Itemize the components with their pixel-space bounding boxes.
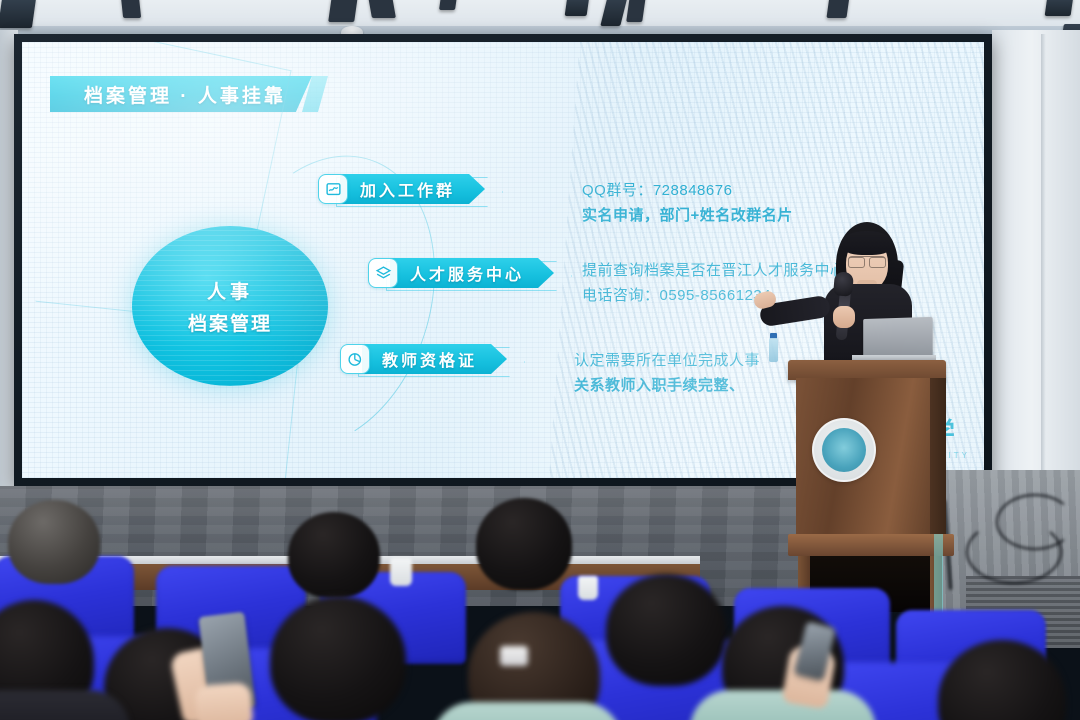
slide-node-1: 加入工作群	[318, 174, 485, 204]
water-bottle	[769, 338, 778, 362]
core-circle: 人事 档案管理	[132, 226, 328, 386]
laptop-screen	[863, 317, 932, 359]
slide-node-label-2: 人才服务中心	[390, 258, 554, 288]
university-emblem	[812, 418, 876, 482]
slide-node-label-1: 加入工作群	[340, 174, 485, 204]
slide-note-1-line-2: 实名申请，部门+姓名改群名片	[582, 203, 793, 228]
slide-node-3: 教师资格证	[340, 344, 507, 374]
wall-seam	[1041, 34, 1046, 474]
lectern-tape	[934, 534, 943, 618]
ceiling-spotlight	[439, 0, 457, 10]
slide-note-1-line-1: QQ群号：728848676	[582, 178, 793, 203]
audience-shoulder	[432, 702, 622, 720]
presenter-glasses	[848, 256, 886, 265]
audience-head	[288, 512, 380, 598]
layers-icon	[368, 258, 398, 288]
lectern-shelf	[788, 534, 954, 556]
slide-note-2-line-1: 提前查询档案是否在晋江人才服务中心	[582, 258, 846, 283]
slide-node-2: 人才服务中心	[368, 258, 554, 288]
core-title-line-1: 人事	[207, 277, 253, 304]
floor-cable-loop	[966, 520, 1062, 584]
presenter-fringe	[841, 231, 893, 255]
ceiling-spotlight	[565, 0, 590, 16]
hair-clip	[500, 646, 528, 666]
presenter-mic-hand	[833, 306, 855, 328]
audience-head	[8, 500, 100, 584]
line-chart-icon	[318, 174, 348, 204]
emblem-inner	[822, 428, 866, 472]
slide-note-3: 认定需要所在单位完成人事 关系教师入职手续完整、	[574, 348, 760, 398]
audience-hand	[195, 682, 254, 720]
ceiling-spotlight	[368, 0, 396, 18]
audience-head	[270, 596, 406, 720]
slide-note-3-line-1: 认定需要所在单位完成人事	[574, 348, 760, 373]
microphone-head	[833, 271, 854, 297]
ceiling-spotlight	[826, 0, 849, 18]
photo-scene: 档案管理 · 人事挂靠 人事 档案管理 加入工作群	[0, 0, 1080, 720]
ceiling-spotlight	[0, 0, 36, 28]
slide-note-1: QQ群号：728848676 实名申请，部门+姓名改群名片	[582, 178, 793, 228]
lectern-top	[788, 360, 946, 380]
ceiling-spotlight	[121, 0, 141, 18]
ceiling-spotlight	[1045, 0, 1074, 16]
ceiling-spotlight	[328, 0, 358, 22]
paper-cup	[578, 576, 598, 600]
paper-cup	[390, 558, 412, 586]
slide-note-3-line-2: 关系教师入职手续完整、	[574, 373, 760, 398]
audience-head	[606, 574, 726, 686]
wall-right	[992, 30, 1080, 500]
core-title-line-2: 档案管理	[188, 309, 272, 336]
pie-chart-icon	[340, 344, 370, 374]
audience-head	[476, 498, 572, 590]
slide-node-label-3: 教师资格证	[362, 344, 507, 374]
lectern-side-edge	[930, 378, 946, 538]
